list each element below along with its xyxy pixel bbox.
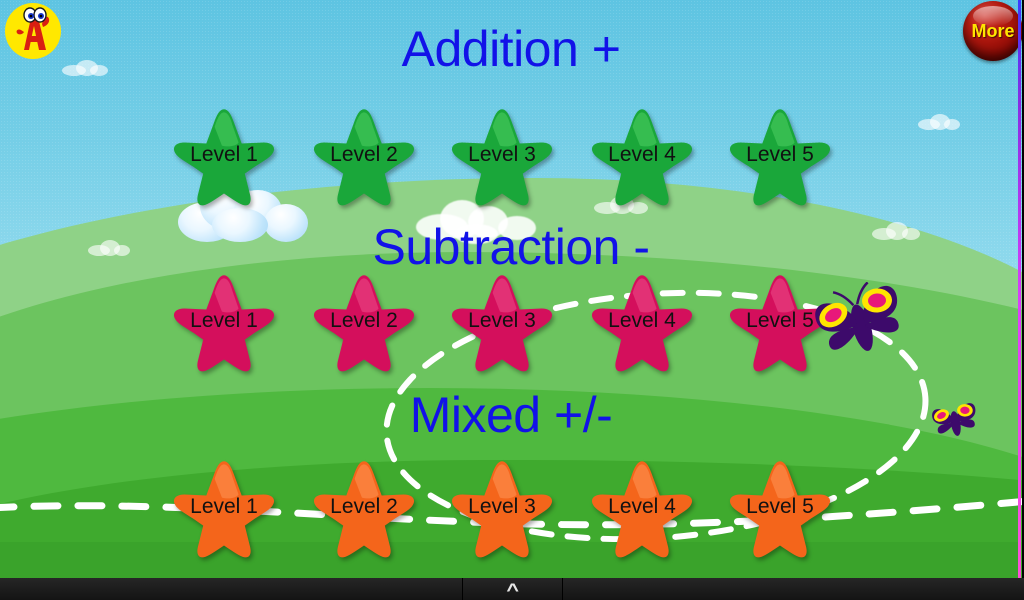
chevron-up-icon: ˄ [506, 581, 519, 597]
level-row-mixed: Level 1 Level 2 Level 3 Level 4 Level 5 [0, 458, 1022, 562]
level-row-addition: Level 1 Level 2 Level 3 Level 4 Level 5 [0, 104, 1022, 208]
level-star-addition-5[interactable]: Level 5 [728, 106, 832, 206]
level-star-subtraction-1[interactable]: Level 1 [172, 272, 276, 372]
section-title-addition: Addition + [0, 24, 1022, 74]
screen: Addition + Level 1 Level 2 Level 3 Level… [0, 0, 1024, 600]
more-button[interactable]: More [963, 1, 1022, 61]
section-title-subtraction: Subtraction - [0, 222, 1022, 272]
level-star-addition-2[interactable]: Level 2 [312, 106, 416, 206]
level-star-mixed-3[interactable]: Level 3 [450, 458, 554, 558]
section-title-mixed: Mixed +/- [0, 390, 1022, 440]
level-star-mixed-4[interactable]: Level 4 [590, 458, 694, 558]
more-button-label: More [963, 1, 1022, 61]
game-stage: Addition + Level 1 Level 2 Level 3 Level… [0, 0, 1022, 578]
level-star-subtraction-4[interactable]: Level 4 [590, 272, 694, 372]
level-star-addition-1[interactable]: Level 1 [172, 106, 276, 206]
level-star-mixed-2[interactable]: Level 2 [312, 458, 416, 558]
level-star-addition-3[interactable]: Level 3 [450, 106, 554, 206]
nav-expand-button[interactable]: ˄ [463, 578, 563, 600]
level-star-addition-4[interactable]: Level 4 [590, 106, 694, 206]
butterfly-icon [812, 282, 908, 360]
level-star-mixed-5[interactable]: Level 5 [728, 458, 832, 558]
android-navigation-bar: ˄ [0, 578, 1024, 600]
level-star-subtraction-2[interactable]: Level 2 [312, 272, 416, 372]
level-star-mixed-1[interactable]: Level 1 [172, 458, 276, 558]
edge-strip [1018, 0, 1021, 578]
level-star-subtraction-3[interactable]: Level 3 [450, 272, 554, 372]
nav-bar-right-spacer [563, 578, 1024, 600]
letter-a-mascot-icon[interactable] [4, 2, 62, 60]
nav-bar-left-spacer [0, 578, 463, 600]
